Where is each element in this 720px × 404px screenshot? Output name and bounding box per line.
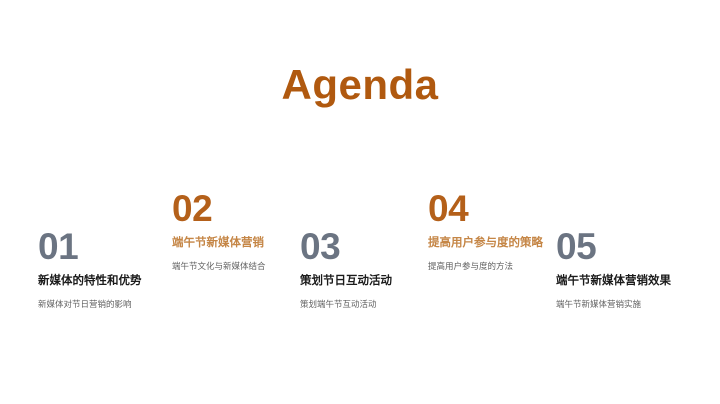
agenda-item-title: 策划节日互动活动	[300, 273, 450, 289]
page-title: Agenda	[0, 64, 720, 106]
agenda-item-title: 新媒体的特性和优势	[38, 273, 188, 289]
agenda-slide: Agenda 01 新媒体的特性和优势 新媒体对节日营销的影响 02 端午节新媒…	[0, 0, 720, 404]
agenda-item-title: 端午节新媒体营销效果	[556, 273, 706, 289]
agenda-item-subtitle: 新媒体对节日营销的影响	[38, 298, 188, 311]
agenda-item-01[interactable]: 01 新媒体的特性和优势 新媒体对节日营销的影响	[38, 190, 188, 311]
agenda-item-subtitle: 策划端午节互动活动	[300, 298, 450, 311]
agenda-item-subtitle: 端午节新媒体营销实施	[556, 298, 706, 311]
agenda-item-number: 01	[38, 228, 188, 267]
agenda-item-list: 01 新媒体的特性和优势 新媒体对节日营销的影响 02 端午节新媒体营销 端午节…	[0, 190, 720, 350]
agenda-item-number: 05	[556, 228, 706, 267]
agenda-item-05[interactable]: 05 端午节新媒体营销效果 端午节新媒体营销实施	[556, 190, 706, 311]
